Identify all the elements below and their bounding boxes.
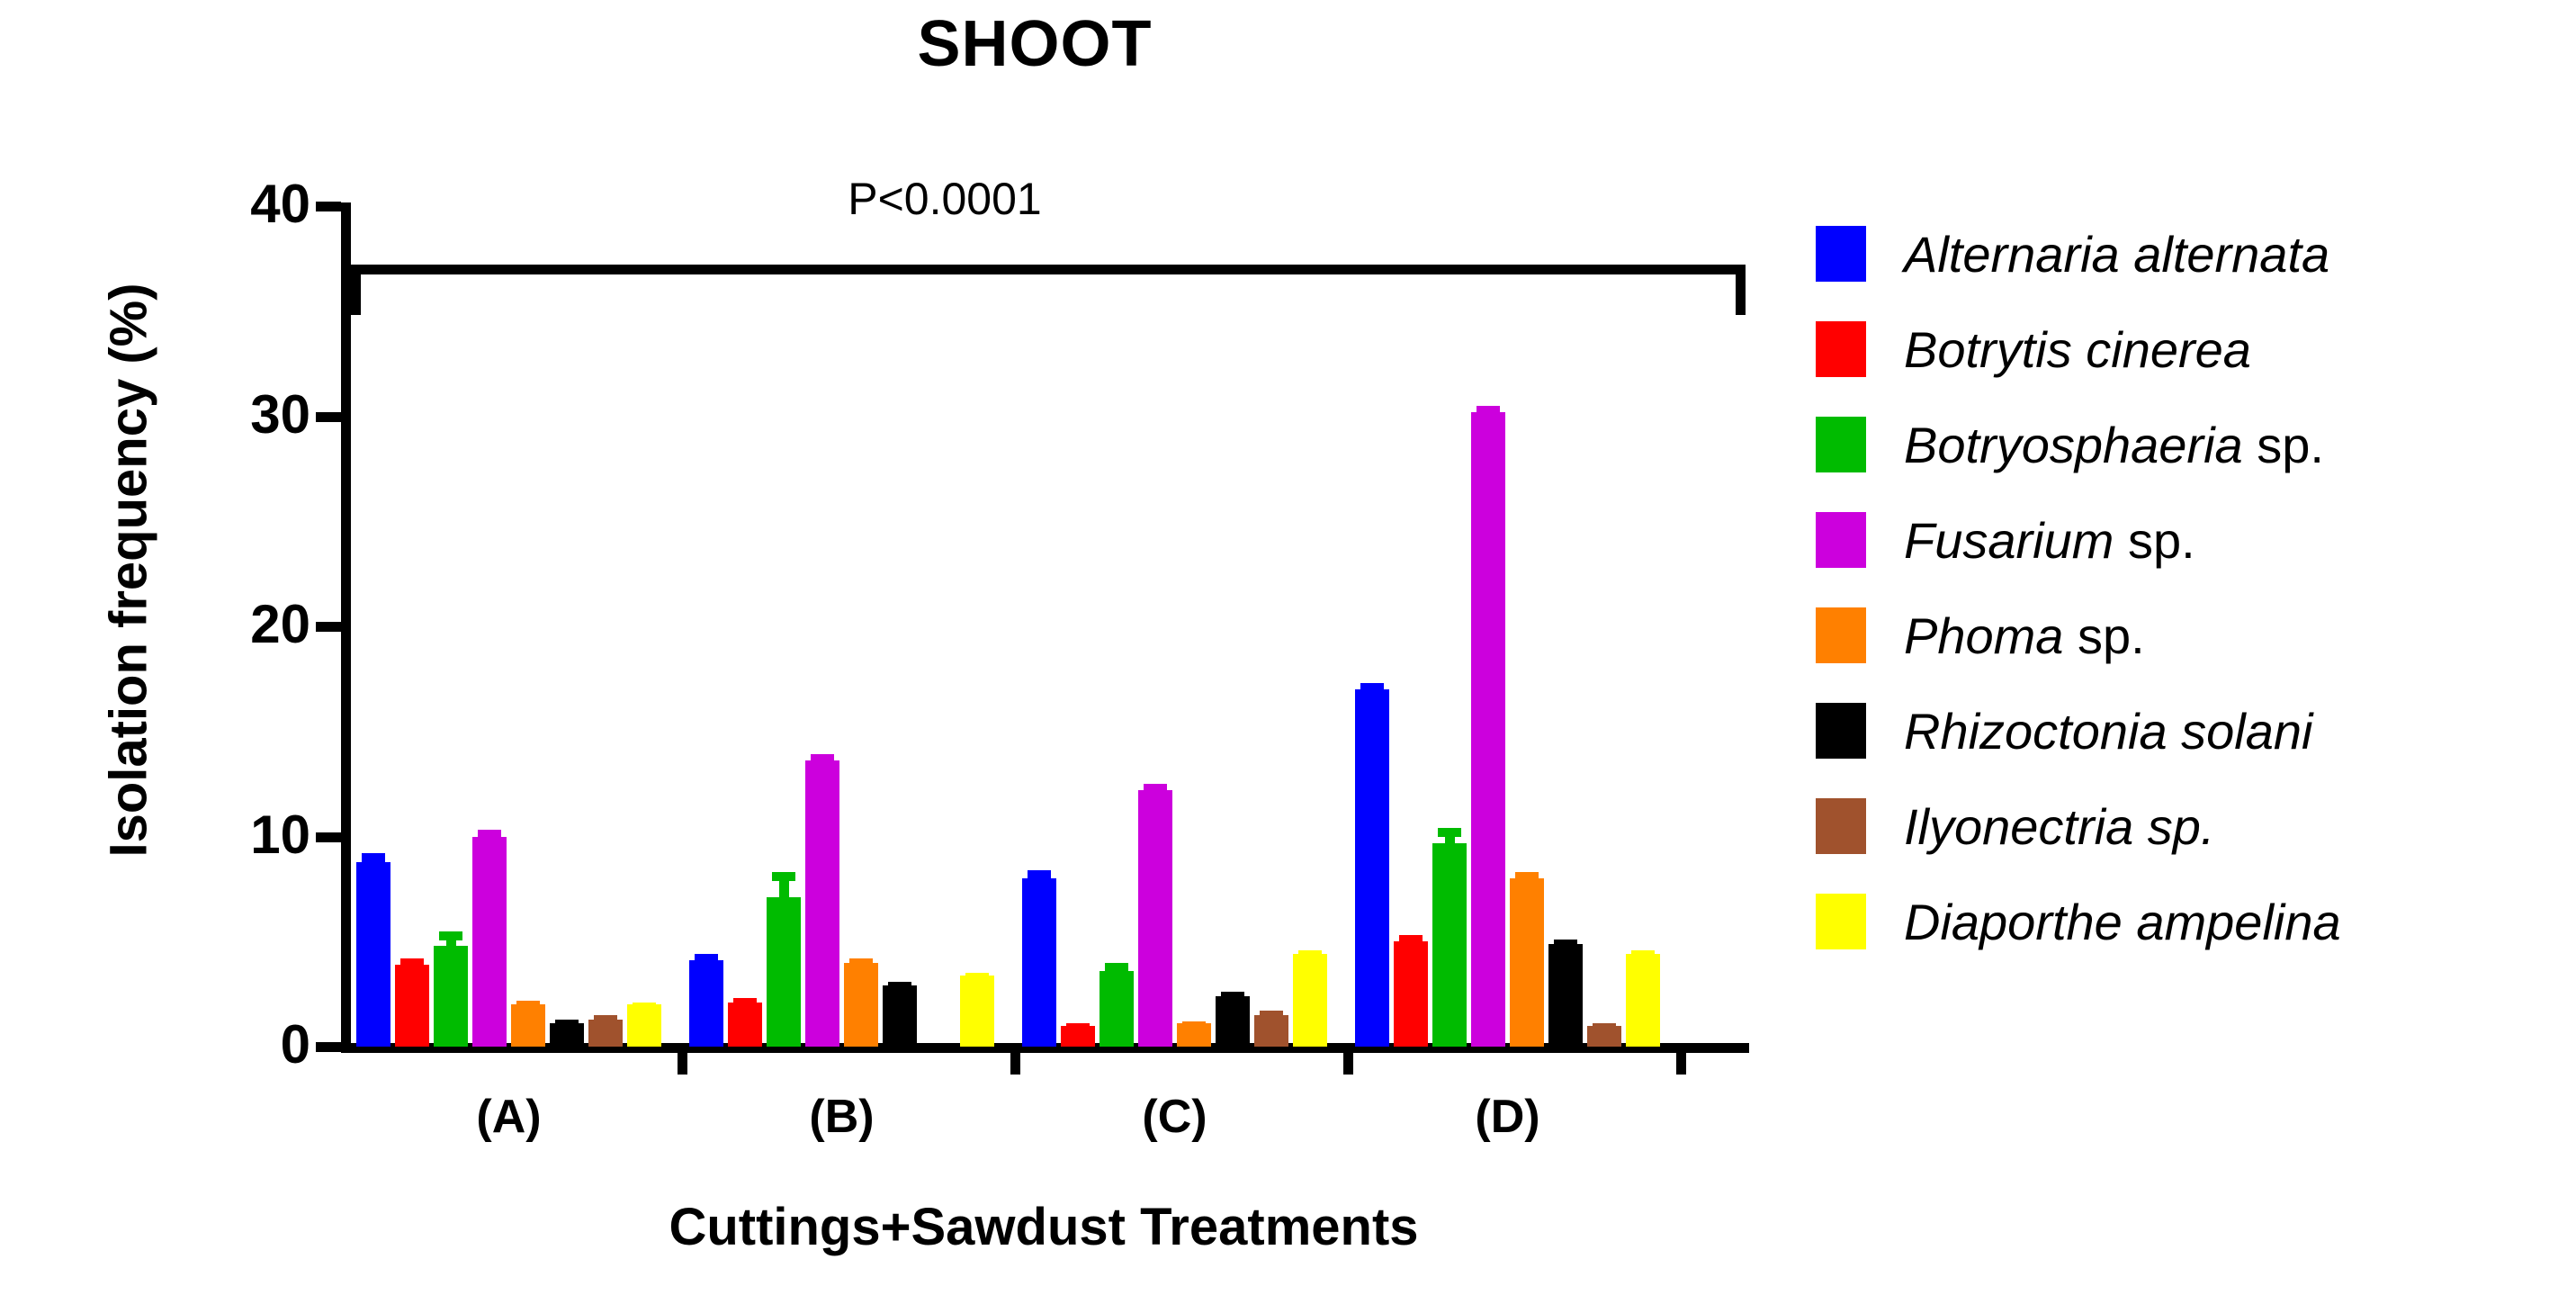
error-bar-cap: [1593, 1023, 1616, 1032]
error-bar-cap: [849, 958, 873, 967]
bar: [395, 965, 429, 1047]
legend-item-label: Diaporthe ampelina: [1904, 893, 2341, 951]
bar: [1022, 878, 1056, 1047]
bar: [472, 837, 507, 1048]
legend-swatch: [1816, 226, 1866, 282]
bar: [1394, 941, 1428, 1047]
bar: [960, 976, 994, 1047]
error-bar-cap: [362, 853, 385, 862]
error-bar-cap: [772, 872, 795, 881]
bar: [434, 946, 468, 1047]
legend-item[interactable]: Rhizoctonia solani: [1816, 691, 2563, 770]
legend-item-label: Botryosphaeria sp.: [1904, 416, 2324, 474]
error-bar-cap: [1476, 406, 1500, 415]
error-bar-cap: [1260, 1011, 1283, 1020]
error-bar-cap: [733, 998, 757, 1007]
legend-item-label: Alternaria alternata: [1904, 225, 2329, 283]
bar: [1138, 790, 1172, 1047]
legend-item[interactable]: Ilyonectria sp.: [1816, 787, 2563, 866]
error-bar-cap: [811, 754, 834, 763]
error-bar-cap: [888, 982, 911, 991]
bar: [356, 862, 390, 1047]
error-bar-cap: [1066, 1023, 1090, 1032]
chart-figure: SHOOT 010203040 (A)(B)(C)(D) Isolation f…: [0, 0, 2576, 1304]
bar: [689, 960, 723, 1047]
legend-swatch: [1816, 321, 1866, 377]
legend: Alternaria alternataBotrytis cinereaBotr…: [1816, 214, 2563, 977]
error-bar-cap: [1028, 870, 1051, 879]
error-bar-cap: [1105, 963, 1128, 972]
legend-item[interactable]: Alternaria alternata: [1816, 214, 2563, 293]
bar: [1548, 944, 1583, 1047]
legend-item-label: Phoma sp.: [1904, 607, 2145, 665]
bar: [805, 760, 839, 1047]
legend-item-label: Botrytis cinerea: [1904, 320, 2251, 379]
bar: [1293, 954, 1327, 1047]
error-bar-cap: [1221, 992, 1244, 1001]
legend-item[interactable]: Phoma sp.: [1816, 596, 2563, 675]
legend-swatch: [1816, 512, 1866, 568]
error-bar-cap: [1438, 828, 1461, 837]
error-bar-cap: [695, 954, 718, 963]
error-bar-cap: [965, 973, 989, 982]
error-bar-cap: [1399, 935, 1423, 944]
legend-item-label: Fusarium sp.: [1904, 511, 2195, 570]
legend-item[interactable]: Fusarium sp.: [1816, 500, 2563, 580]
legend-item[interactable]: Diaporthe ampelina: [1816, 882, 2563, 961]
bar: [728, 1003, 762, 1047]
bar: [883, 985, 917, 1047]
error-bar-cap: [1182, 1021, 1206, 1030]
legend-item-label: Rhizoctonia solani: [1904, 702, 2312, 760]
error-bar-cap: [1515, 872, 1539, 881]
bar: [1471, 412, 1505, 1047]
legend-item[interactable]: Botrytis cinerea: [1816, 310, 2563, 389]
error-bar-cap: [478, 830, 501, 839]
bar: [767, 897, 801, 1047]
bar: [1626, 954, 1660, 1047]
bar: [1510, 878, 1544, 1047]
bar: [1216, 996, 1250, 1047]
error-bar-cap: [400, 958, 424, 967]
error-bar-cap: [1631, 950, 1655, 959]
legend-swatch: [1816, 607, 1866, 663]
error-bar-cap: [516, 1001, 540, 1010]
error-bar-cap: [594, 1015, 617, 1024]
error-bar-cap: [555, 1020, 579, 1029]
legend-item-label: Ilyonectria sp.: [1904, 797, 2215, 856]
bar: [1355, 689, 1389, 1047]
error-bar-cap: [1298, 950, 1322, 959]
bar: [511, 1004, 545, 1047]
error-bar-cap: [633, 1003, 656, 1012]
legend-swatch: [1816, 703, 1866, 759]
error-bar-cap: [1554, 940, 1577, 949]
legend-item[interactable]: Botryosphaeria sp.: [1816, 405, 2563, 484]
error-bar-cap: [439, 931, 462, 940]
legend-swatch: [1816, 798, 1866, 854]
legend-swatch: [1816, 894, 1866, 949]
error-bar-cap: [1360, 683, 1384, 692]
bar: [844, 963, 878, 1047]
bar: [1100, 971, 1134, 1047]
legend-swatch: [1816, 417, 1866, 472]
bar: [1432, 843, 1467, 1047]
error-bar-cap: [1144, 784, 1167, 793]
